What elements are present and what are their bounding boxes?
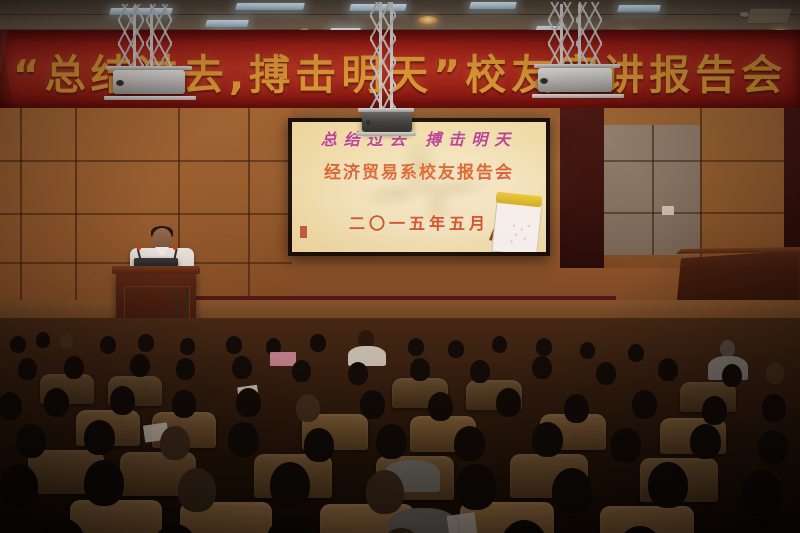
audience-head — [0, 392, 22, 420]
audience-head — [180, 338, 195, 355]
fluorescent-light-panel — [235, 3, 305, 10]
audience-head — [266, 516, 314, 533]
audience-head — [270, 462, 310, 508]
audience-head — [596, 362, 616, 385]
audience-head — [628, 344, 644, 362]
light-switch-plate[interactable] — [662, 206, 674, 215]
auditorium-seat[interactable] — [70, 500, 162, 533]
wall-panel-seam — [604, 160, 784, 162]
dark-wood-column — [560, 108, 604, 268]
podium-top — [112, 266, 200, 274]
wall-panel-seam — [700, 108, 702, 258]
audience-head — [84, 420, 115, 455]
projector-lens — [364, 120, 372, 126]
audience-head — [228, 422, 259, 457]
projector-lens — [116, 80, 124, 86]
audience-head — [110, 386, 135, 415]
audience-head — [428, 392, 453, 421]
microphone-head-left — [137, 246, 141, 250]
microphone-head-right — [173, 246, 177, 250]
audience-head — [292, 360, 311, 382]
audience-head — [456, 464, 496, 510]
audience-head — [658, 358, 678, 381]
fluorescent-light-panel — [469, 2, 517, 9]
audience-head — [758, 430, 788, 464]
audience-head — [552, 468, 592, 514]
audience-head — [536, 338, 552, 356]
projector-body — [538, 68, 612, 92]
slide-title: 经济贸易系校友报告会 — [292, 158, 546, 183]
audience-head — [36, 332, 50, 348]
projection-screen: 总结过去 搏击明天 经济贸易系校友报告会 二〇一五年五月 — [288, 118, 550, 256]
audience-head — [296, 394, 320, 422]
audience-head — [376, 424, 407, 459]
audience-head — [702, 396, 727, 425]
red-seal-graphic — [300, 226, 307, 238]
wall-panel-seam — [0, 213, 292, 215]
air-vent — [746, 8, 793, 24]
recessed-spotlight — [418, 16, 438, 25]
audience-head — [580, 342, 595, 359]
audience-head — [448, 340, 464, 358]
fluorescent-light-panel — [205, 20, 249, 27]
audience-head — [532, 356, 552, 379]
fluorescent-light-panel — [617, 5, 661, 12]
projector-lens — [540, 78, 548, 84]
clipboard-graphic — [491, 198, 542, 252]
audience-head — [470, 360, 490, 383]
audience-head — [84, 460, 124, 506]
audience-head — [762, 394, 786, 422]
audience-head — [532, 422, 563, 457]
audience-head — [648, 462, 688, 508]
audience-head — [100, 336, 116, 354]
audience-head — [742, 470, 782, 516]
audience-head — [60, 334, 73, 349]
projection-screen-image: 总结过去 搏击明天 经济贸易系校友报告会 二〇一五年五月 — [292, 122, 546, 252]
audience-head — [310, 334, 326, 352]
audience-head — [236, 388, 261, 417]
audience-head — [226, 336, 242, 354]
audience-head — [410, 358, 430, 381]
audience-head — [610, 428, 641, 463]
audience-head — [18, 358, 37, 380]
audience-head — [366, 470, 404, 514]
audience-head — [360, 390, 385, 419]
audience-head — [16, 424, 46, 458]
seated-audience — [0, 318, 800, 533]
audience-head — [130, 354, 150, 377]
dark-wood-column — [784, 108, 800, 258]
audience-head — [492, 336, 507, 353]
auditorium-photo: “总结过去,搏击明天”校友宣讲报告会 总结过去 搏击明天 经济贸易系校友报告会 … — [0, 0, 800, 533]
audience-head — [496, 388, 521, 417]
audience-head — [64, 356, 84, 379]
audience-head — [304, 428, 334, 462]
audience-head — [564, 394, 589, 423]
slide-heading: 总结过去 搏击明天 — [292, 126, 546, 150]
audience-head — [722, 364, 742, 387]
wall-panel-seam — [0, 160, 292, 162]
audience-head — [138, 334, 154, 352]
pink-placard — [270, 352, 296, 366]
wall-panel-seam — [604, 212, 784, 214]
audience-head — [732, 518, 780, 533]
audience-head — [178, 468, 216, 512]
audience-head — [720, 340, 735, 357]
audience-head — [160, 426, 190, 460]
audience-head — [172, 390, 196, 418]
audience-head — [690, 424, 721, 459]
audience-head — [10, 336, 26, 353]
audience-head — [408, 338, 424, 356]
audience-head — [232, 356, 252, 379]
wall-panel-seam — [652, 125, 654, 255]
handout-paper — [447, 512, 478, 533]
audience-head — [0, 464, 38, 508]
audience-head — [348, 362, 368, 385]
audience-head — [766, 362, 784, 384]
audience-head — [632, 390, 657, 419]
audience-head — [454, 426, 485, 461]
audience-head — [44, 388, 69, 417]
audience-head — [176, 358, 195, 380]
